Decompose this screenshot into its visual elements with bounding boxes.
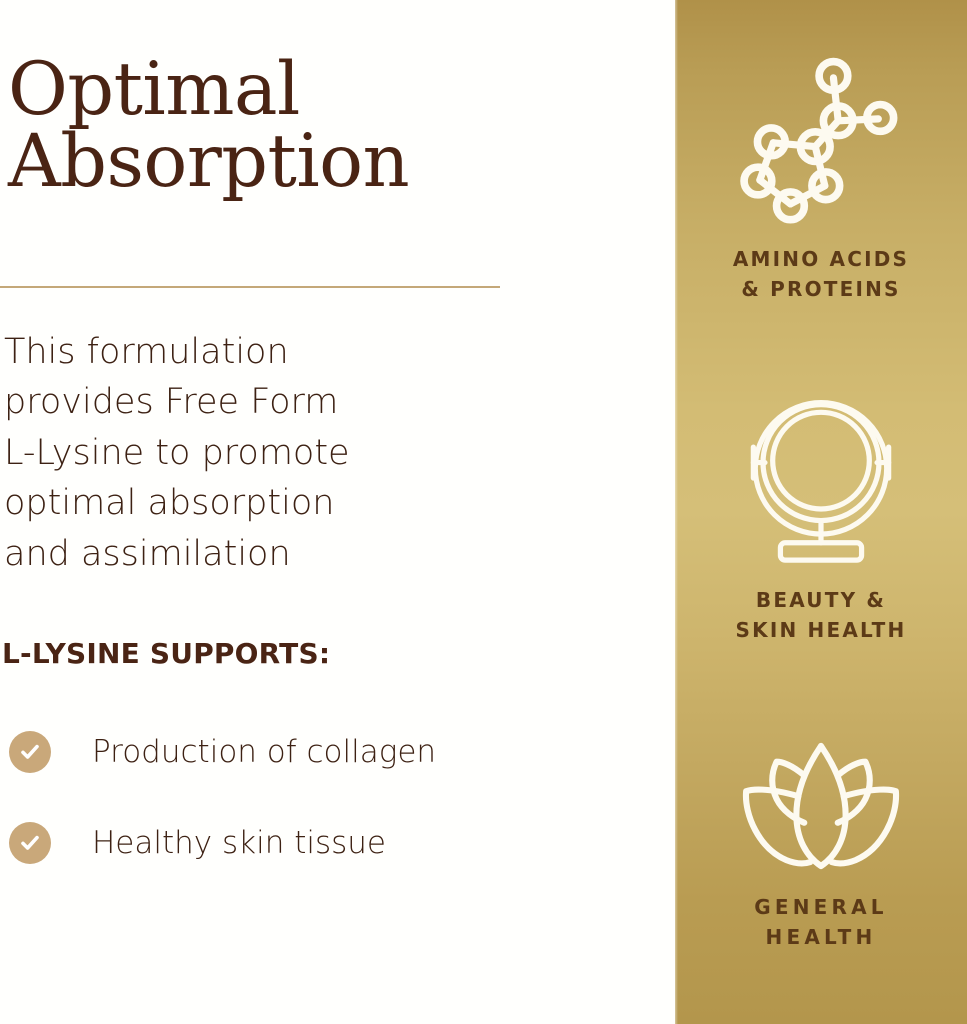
benefit-label: BEAUTY & SKIN HEALTH: [736, 585, 907, 646]
lotus-flower-icon: [737, 740, 905, 872]
supports-heading: L-LYSINE SUPPORTS:: [2, 637, 330, 670]
benefit-item-amino-acids: AMINO ACIDS & PROTEINS: [675, 52, 967, 305]
check-circle-icon: [9, 731, 51, 773]
promotional-panel: Optimal Absorption This formulation prov…: [0, 0, 967, 1024]
supports-list: Production of collagen Healthy skin tiss…: [2, 722, 622, 904]
list-item: Healthy skin tissue: [2, 813, 622, 873]
benefit-panel: AMINO ACIDS & PROTEINS: [675, 0, 967, 1024]
benefit-label: GENERAL HEALTH: [754, 892, 888, 953]
page-title: Optimal Absorption: [8, 54, 648, 199]
benefit-label: AMINO ACIDS & PROTEINS: [733, 244, 909, 305]
check-circle-icon: [9, 822, 51, 864]
benefit-item-general-health: GENERAL HEALTH: [675, 740, 967, 953]
benefit-item-beauty: BEAUTY & SKIN HEALTH: [675, 393, 967, 646]
title-divider: [0, 286, 500, 288]
list-item: Production of collagen: [2, 722, 622, 782]
list-item-label: Healthy skin tissue: [92, 828, 386, 859]
molecule-icon: [735, 52, 907, 224]
list-item-label: Production of collagen: [92, 737, 436, 768]
left-content-pane: Optimal Absorption This formulation prov…: [0, 0, 675, 1024]
description-text: This formulation provides Free Form L-Ly…: [4, 327, 434, 579]
vanity-mirror-icon: [737, 393, 905, 565]
